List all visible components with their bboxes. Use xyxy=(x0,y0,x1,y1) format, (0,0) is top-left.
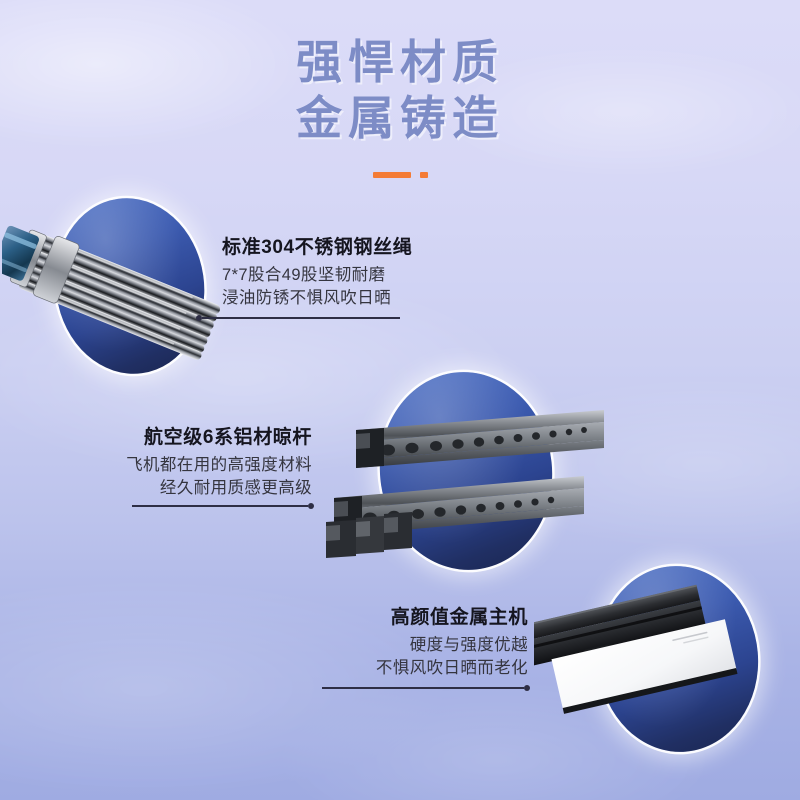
medallion-metal-host xyxy=(590,559,766,758)
feature-block-metal-host: 高颜值金属主机 硬度与强度优越 不惧风吹日晒而老化 xyxy=(376,602,528,681)
headline-line-2: 金属铸造 xyxy=(0,90,800,146)
feature-subtitle-wire-rope-line2: 浸油防锈不惧风吹日晒 xyxy=(222,287,412,310)
feature-block-wire-rope: 标准304不锈钢钢丝绳 7*7股合49股坚韧耐磨 浸油防锈不惧风吹日晒 xyxy=(222,232,412,311)
headline-divider xyxy=(0,172,800,178)
page-title: 强悍材质 金属铸造 xyxy=(0,34,800,146)
feature-title-wire-rope: 标准304不锈钢钢丝绳 xyxy=(222,232,412,259)
feature-block-aluminum-rod: 航空级6系铝材晾杆 飞机都在用的高强度材料 经久耐用质感更高级 xyxy=(126,422,312,501)
medallion-wire-rope xyxy=(44,189,215,384)
feature-title-metal-host: 高颜值金属主机 xyxy=(376,602,528,629)
product-feature-poster: 强悍材质 金属铸造 xyxy=(0,0,800,800)
feature-subtitle-metal-host-line1: 硬度与强度优越 xyxy=(376,634,528,657)
rule-knob-icon xyxy=(308,503,314,509)
rule-bar xyxy=(202,317,400,319)
rule-knob-icon xyxy=(524,685,530,691)
medallion-aluminum-rod xyxy=(370,364,562,579)
orange-dash-icon xyxy=(373,172,411,178)
feature-subtitle-aluminum-rod-line1: 飞机都在用的高强度材料 xyxy=(126,454,312,477)
headline-line-1: 强悍材质 xyxy=(296,36,504,88)
orange-dot-icon xyxy=(420,172,428,178)
feature-subtitle-wire-rope-line1: 7*7股合49股坚韧耐磨 xyxy=(222,264,412,287)
feature-title-aluminum-rod: 航空级6系铝材晾杆 xyxy=(126,422,312,449)
feature-subtitle-aluminum-rod-line2: 经久耐用质感更高级 xyxy=(126,477,312,500)
rule-bar xyxy=(132,505,308,507)
feature-subtitle-metal-host-line2: 不惧风吹日晒而老化 xyxy=(376,657,528,680)
rule-bar xyxy=(322,687,524,689)
